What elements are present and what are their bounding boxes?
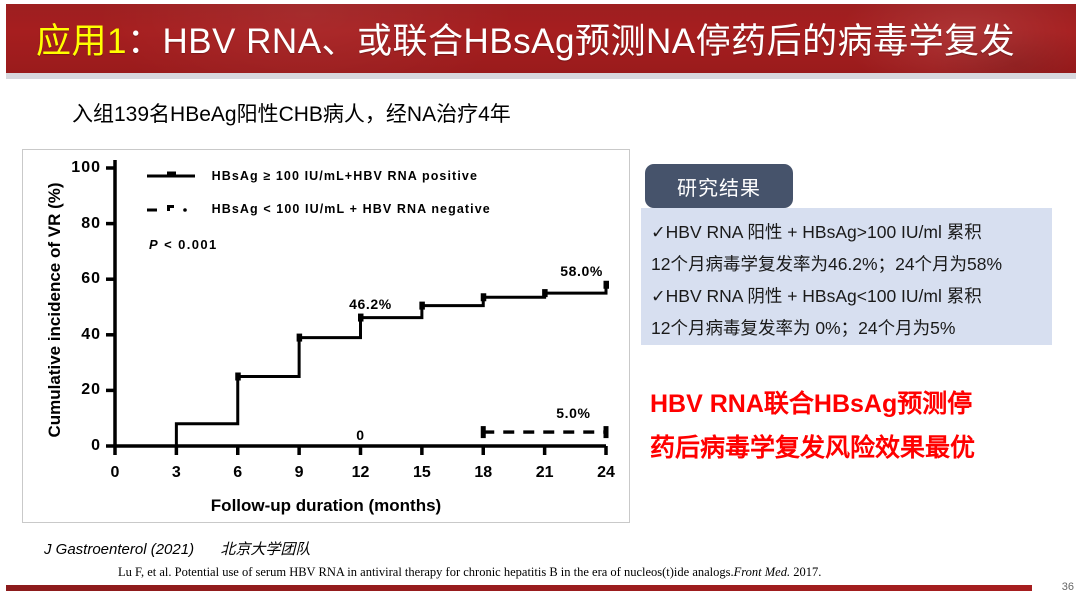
chart-datalabel-46: 46.2%	[349, 296, 392, 312]
source-journal-name: J Gastroenterol (2021)	[44, 541, 194, 558]
chart-pvalue-annotation: PP < 0.001 < 0.001	[149, 237, 218, 252]
citation-journal: Front Med.	[734, 565, 790, 579]
source-team: 北京大学团队	[220, 541, 310, 558]
page-title-accent: 应用1	[36, 22, 127, 61]
chart-legend-label-0: HBsAg ≥ 100 IU/mL+HBV RNA positive	[212, 169, 478, 183]
chart-legend-item-0: HBsAg ≥ 100 IU/mL+HBV RNA positive	[145, 169, 478, 183]
right-margin	[1078, 0, 1082, 595]
legend-solid-icon	[145, 170, 197, 182]
page-title: 应用1：HBV RNA、或联合HBsAg预测NA停药后的病毒学复发	[36, 13, 1015, 64]
result-line-0: ✓HBV RNA 阳性 + HBsAg>100 IU/ml 累积	[651, 216, 1042, 248]
chart-datalabel-5: 5.0%	[556, 405, 590, 421]
chart-legend-item-1: HBsAg < 100 IU/mL + HBV RNA negative	[145, 202, 491, 216]
conclusion-text: HBV RNA联合HBsAg预测停 药后病毒学复发风险效果最优	[650, 382, 1050, 470]
citation-year: 2017.	[793, 565, 821, 579]
slide: 应用1：HBV RNA、或联合HBsAg预测NA停药后的病毒学复发 入组139名…	[0, 0, 1082, 595]
title-bar-underline	[6, 73, 1076, 79]
source-citation: Lu F, et al. Potential use of serum HBV …	[118, 565, 821, 580]
page-title-rest: ：HBV RNA、或联合HBsAg预测NA停药后的病毒学复发	[127, 22, 1015, 61]
results-badge: 研究结果	[645, 164, 793, 208]
slide-title-bar: 应用1：HBV RNA、或联合HBsAg预测NA停药后的病毒学复发	[6, 4, 1076, 73]
footer-bar	[6, 585, 1032, 591]
legend-dashed-icon	[145, 203, 197, 215]
chart-x-axis-label: Follow-up duration (months)	[23, 496, 629, 516]
results-box: ✓HBV RNA 阳性 + HBsAg>100 IU/ml 累积 12个月病毒学…	[641, 208, 1052, 345]
chart-legend-label-1: HBsAg < 100 IU/mL + HBV RNA negative	[212, 202, 491, 216]
result-line-1: 12个月病毒学复发率为46.2%；24个月为58%	[651, 248, 1042, 280]
result-line-2: ✓HBV RNA 阴性 + HBsAg<100 IU/ml 累积	[651, 280, 1042, 312]
conclusion-line-2: 药后病毒学复发风险效果最优	[650, 426, 1050, 470]
citation-main: Lu F, et al. Potential use of serum HBV …	[118, 565, 734, 579]
chart-datalabel-zero: 0	[356, 427, 364, 443]
chart-datalabel-58: 58.0%	[560, 263, 603, 279]
figure-inner: Cumulative incidence of VR (%) 020406080…	[23, 150, 629, 522]
page-number: 36	[1062, 581, 1074, 593]
kaplan-meier-figure: Cumulative incidence of VR (%) 020406080…	[22, 149, 630, 523]
source-journal: J Gastroenterol (2021) 北京大学团队	[44, 538, 310, 559]
conclusion-line-1: HBV RNA联合HBsAg预测停	[650, 382, 1050, 426]
subtitle: 入组139名HBeAg阳性CHB病人，经NA治疗4年	[72, 98, 511, 128]
result-line-3: 12个月病毒复发率为 0%；24个月为5%	[651, 312, 1042, 344]
